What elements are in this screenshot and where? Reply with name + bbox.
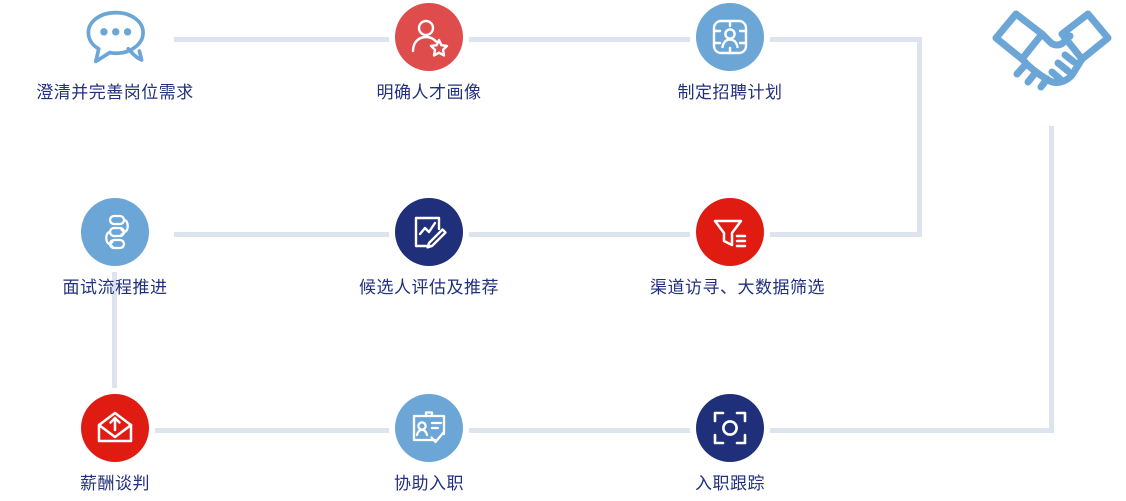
handshake-illustration	[986, 2, 1118, 94]
flow-step-label: 入职跟踪	[650, 475, 810, 494]
connector-right-up-to-handshake	[1049, 126, 1054, 433]
flow-step-interview-process[interactable]: 面试流程推进	[35, 198, 195, 298]
flow-step-clarify-requirements[interactable]: 澄清并完善岗位需求	[35, 3, 195, 103]
flow-step-onboarding-assist[interactable]: 协助入职	[349, 394, 509, 494]
flow-step-label: 面试流程推进	[35, 279, 195, 298]
flow-step-label: 制定招聘计划	[650, 84, 810, 103]
id-badge-check-icon	[395, 394, 463, 462]
workflow-process-icon	[81, 198, 149, 266]
flow-step-label: 明确人才画像	[349, 84, 509, 103]
connector-right-down-to-step4	[917, 37, 922, 237]
envelope-up-arrow-icon	[81, 394, 149, 462]
document-pencil-icon	[395, 198, 463, 266]
flow-step-recruitment-plan[interactable]: 制定招聘计划	[650, 3, 810, 103]
flow-step-label: 渠道访寻、大数据筛选	[650, 279, 810, 298]
speech-bubble-dots-icon	[81, 3, 149, 71]
flow-step-label: 澄清并完善岗位需求	[35, 84, 195, 103]
flow-step-talent-profile[interactable]: 明确人才画像	[349, 3, 509, 103]
flow-step-label: 薪酬谈判	[35, 475, 195, 494]
profile-card-icon	[696, 3, 764, 71]
flow-step-label: 候选人评估及推荐	[349, 279, 509, 298]
focus-target-icon	[696, 394, 764, 462]
flow-step-onboarding-tracking[interactable]: 入职跟踪	[650, 394, 810, 494]
flow-step-candidate-assessment[interactable]: 候选人评估及推荐	[349, 198, 509, 298]
funnel-filter-icon	[696, 198, 764, 266]
flow-step-label: 协助入职	[349, 475, 509, 494]
flowchart-canvas: 澄清并完善岗位需求 明确人才画像	[0, 0, 1126, 501]
person-star-icon	[395, 3, 463, 71]
flow-step-salary-negotiation[interactable]: 薪酬谈判	[35, 394, 195, 494]
flow-step-sourcing-bigdata[interactable]: 渠道访寻、大数据筛选	[650, 198, 810, 298]
